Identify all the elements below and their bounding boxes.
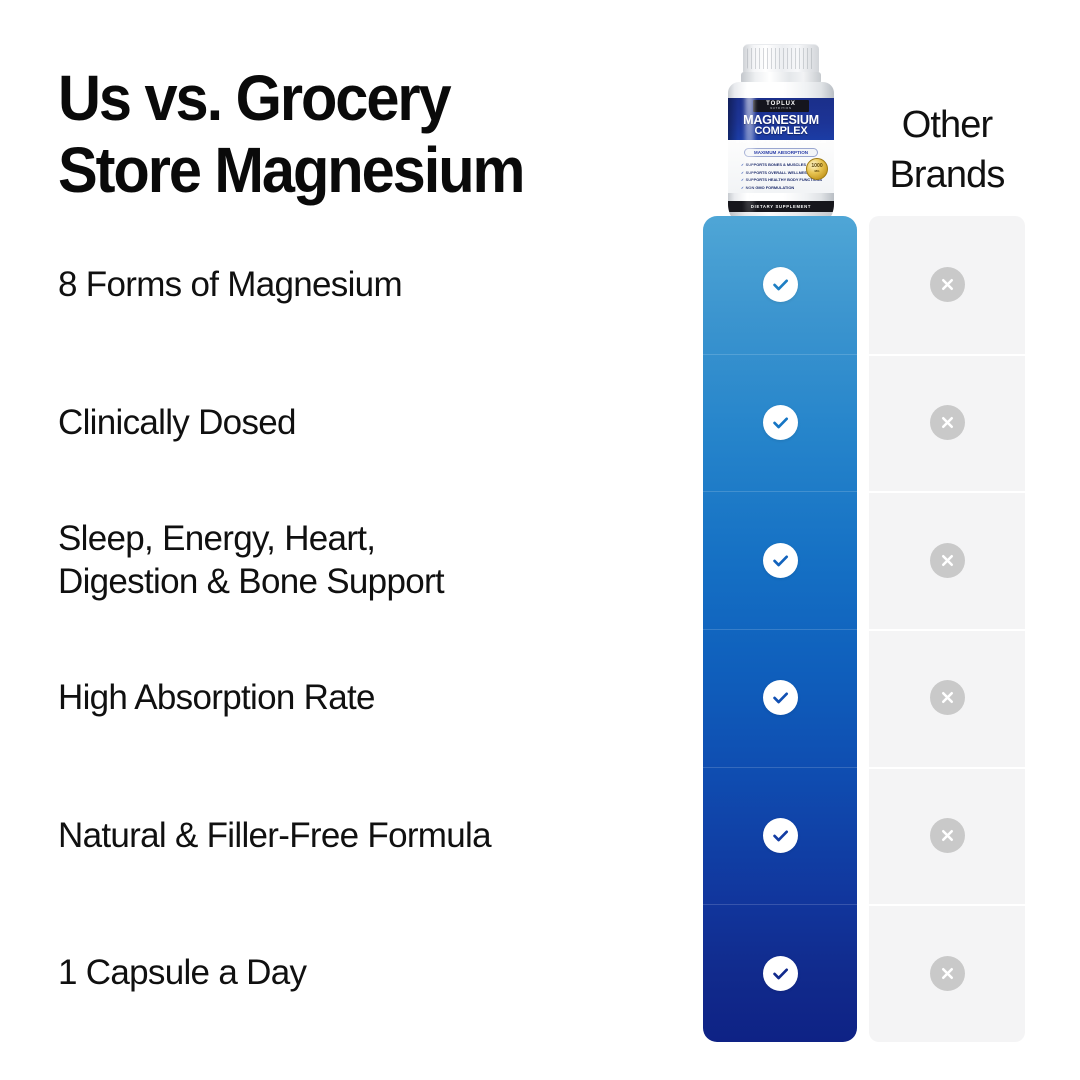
cell-other-brands [869,629,1025,767]
supplement-type-label: DIETARY SUPPLEMENT [751,204,811,209]
feature-row: 1 Capsule a Day [58,904,678,1042]
cell-ours [703,767,857,905]
product-title-line-2: COMPLEX [728,125,834,137]
cell-ours [703,904,857,1042]
check-circle-icon [763,405,798,440]
cell-ours [703,216,857,354]
feature-label: Sleep, Energy, Heart, Digestion & Bone S… [58,517,444,604]
cell-ours [703,491,857,629]
feature-row: Sleep, Energy, Heart, Digestion & Bone S… [58,491,678,629]
dosage-seal-badge: 1000 MG [806,158,828,180]
cell-other-brands [869,354,1025,492]
feature-row: High Absorption Rate [58,629,678,767]
cell-other-brands [869,491,1025,629]
feature-label-line-1: Clinically Dosed [58,401,296,444]
cell-other-brands [869,216,1025,354]
x-circle-icon [930,405,965,440]
x-circle-icon [930,680,965,715]
column-header-other-brands-line-1: Other [869,100,1025,150]
feature-label-line-1: 8 Forms of Magnesium [58,263,402,306]
x-circle-icon [930,818,965,853]
brand-tagline: NUTRITION [770,107,791,111]
feature-label-line-2: Digestion & Bone Support [58,560,444,603]
column-header-other-brands: Other Brands [869,100,1025,200]
x-circle-icon [930,267,965,302]
product-bottle-image: TOPLUX NUTRITION MAGNESIUM COMPLEX 8 FOR… [717,44,845,230]
check-circle-icon [763,680,798,715]
feature-label-line-1: Sleep, Energy, Heart, [58,517,444,560]
brand-logo: TOPLUX NUTRITION [753,100,809,112]
bottle-gloss-highlight [745,86,754,216]
column-other-brands [869,216,1025,1042]
comparison-infographic: Us vs. Grocery Store Magnesium Other Bra… [0,0,1080,1080]
feature-label: High Absorption Rate [58,676,375,719]
bottle-cap-ribs [747,48,815,69]
feature-row: 8 Forms of Magnesium [58,216,678,354]
page-title: Us vs. Grocery Store Magnesium [58,62,653,207]
bottle-footer-bar: DIETARY SUPPLEMENT [728,201,834,212]
feature-label-line-1: Natural & Filler-Free Formula [58,814,491,857]
check-circle-icon [763,956,798,991]
feature-label-list: 8 Forms of Magnesium Clinically Dosed Sl… [58,216,678,1042]
feature-label: Clinically Dosed [58,401,296,444]
column-ours [703,216,857,1042]
feature-row: Clinically Dosed [58,354,678,492]
cell-other-brands [869,767,1025,905]
column-header-other-brands-line-2: Brands [869,150,1025,200]
product-subtitle-absorption: MAXIMUM ABSORPTION [744,148,818,157]
cell-other-brands [869,904,1025,1042]
bottle-cap [743,44,819,74]
dosage-unit: MG [815,169,820,174]
check-circle-icon [763,267,798,302]
check-circle-icon [763,543,798,578]
feature-label: 1 Capsule a Day [58,951,306,994]
feature-label-line-1: 1 Capsule a Day [58,951,306,994]
feature-label-line-1: High Absorption Rate [58,676,375,719]
feature-label: 8 Forms of Magnesium [58,263,402,306]
check-circle-icon [763,818,798,853]
feature-row: Natural & Filler-Free Formula [58,767,678,905]
page-title-line-1: Us vs. Grocery [58,62,653,134]
x-circle-icon [930,956,965,991]
cell-ours [703,629,857,767]
feature-label: Natural & Filler-Free Formula [58,814,491,857]
page-title-line-2: Store Magnesium [58,134,653,206]
x-circle-icon [930,543,965,578]
bottle-body: TOPLUX NUTRITION MAGNESIUM COMPLEX 8 FOR… [728,82,834,230]
cell-ours [703,354,857,492]
